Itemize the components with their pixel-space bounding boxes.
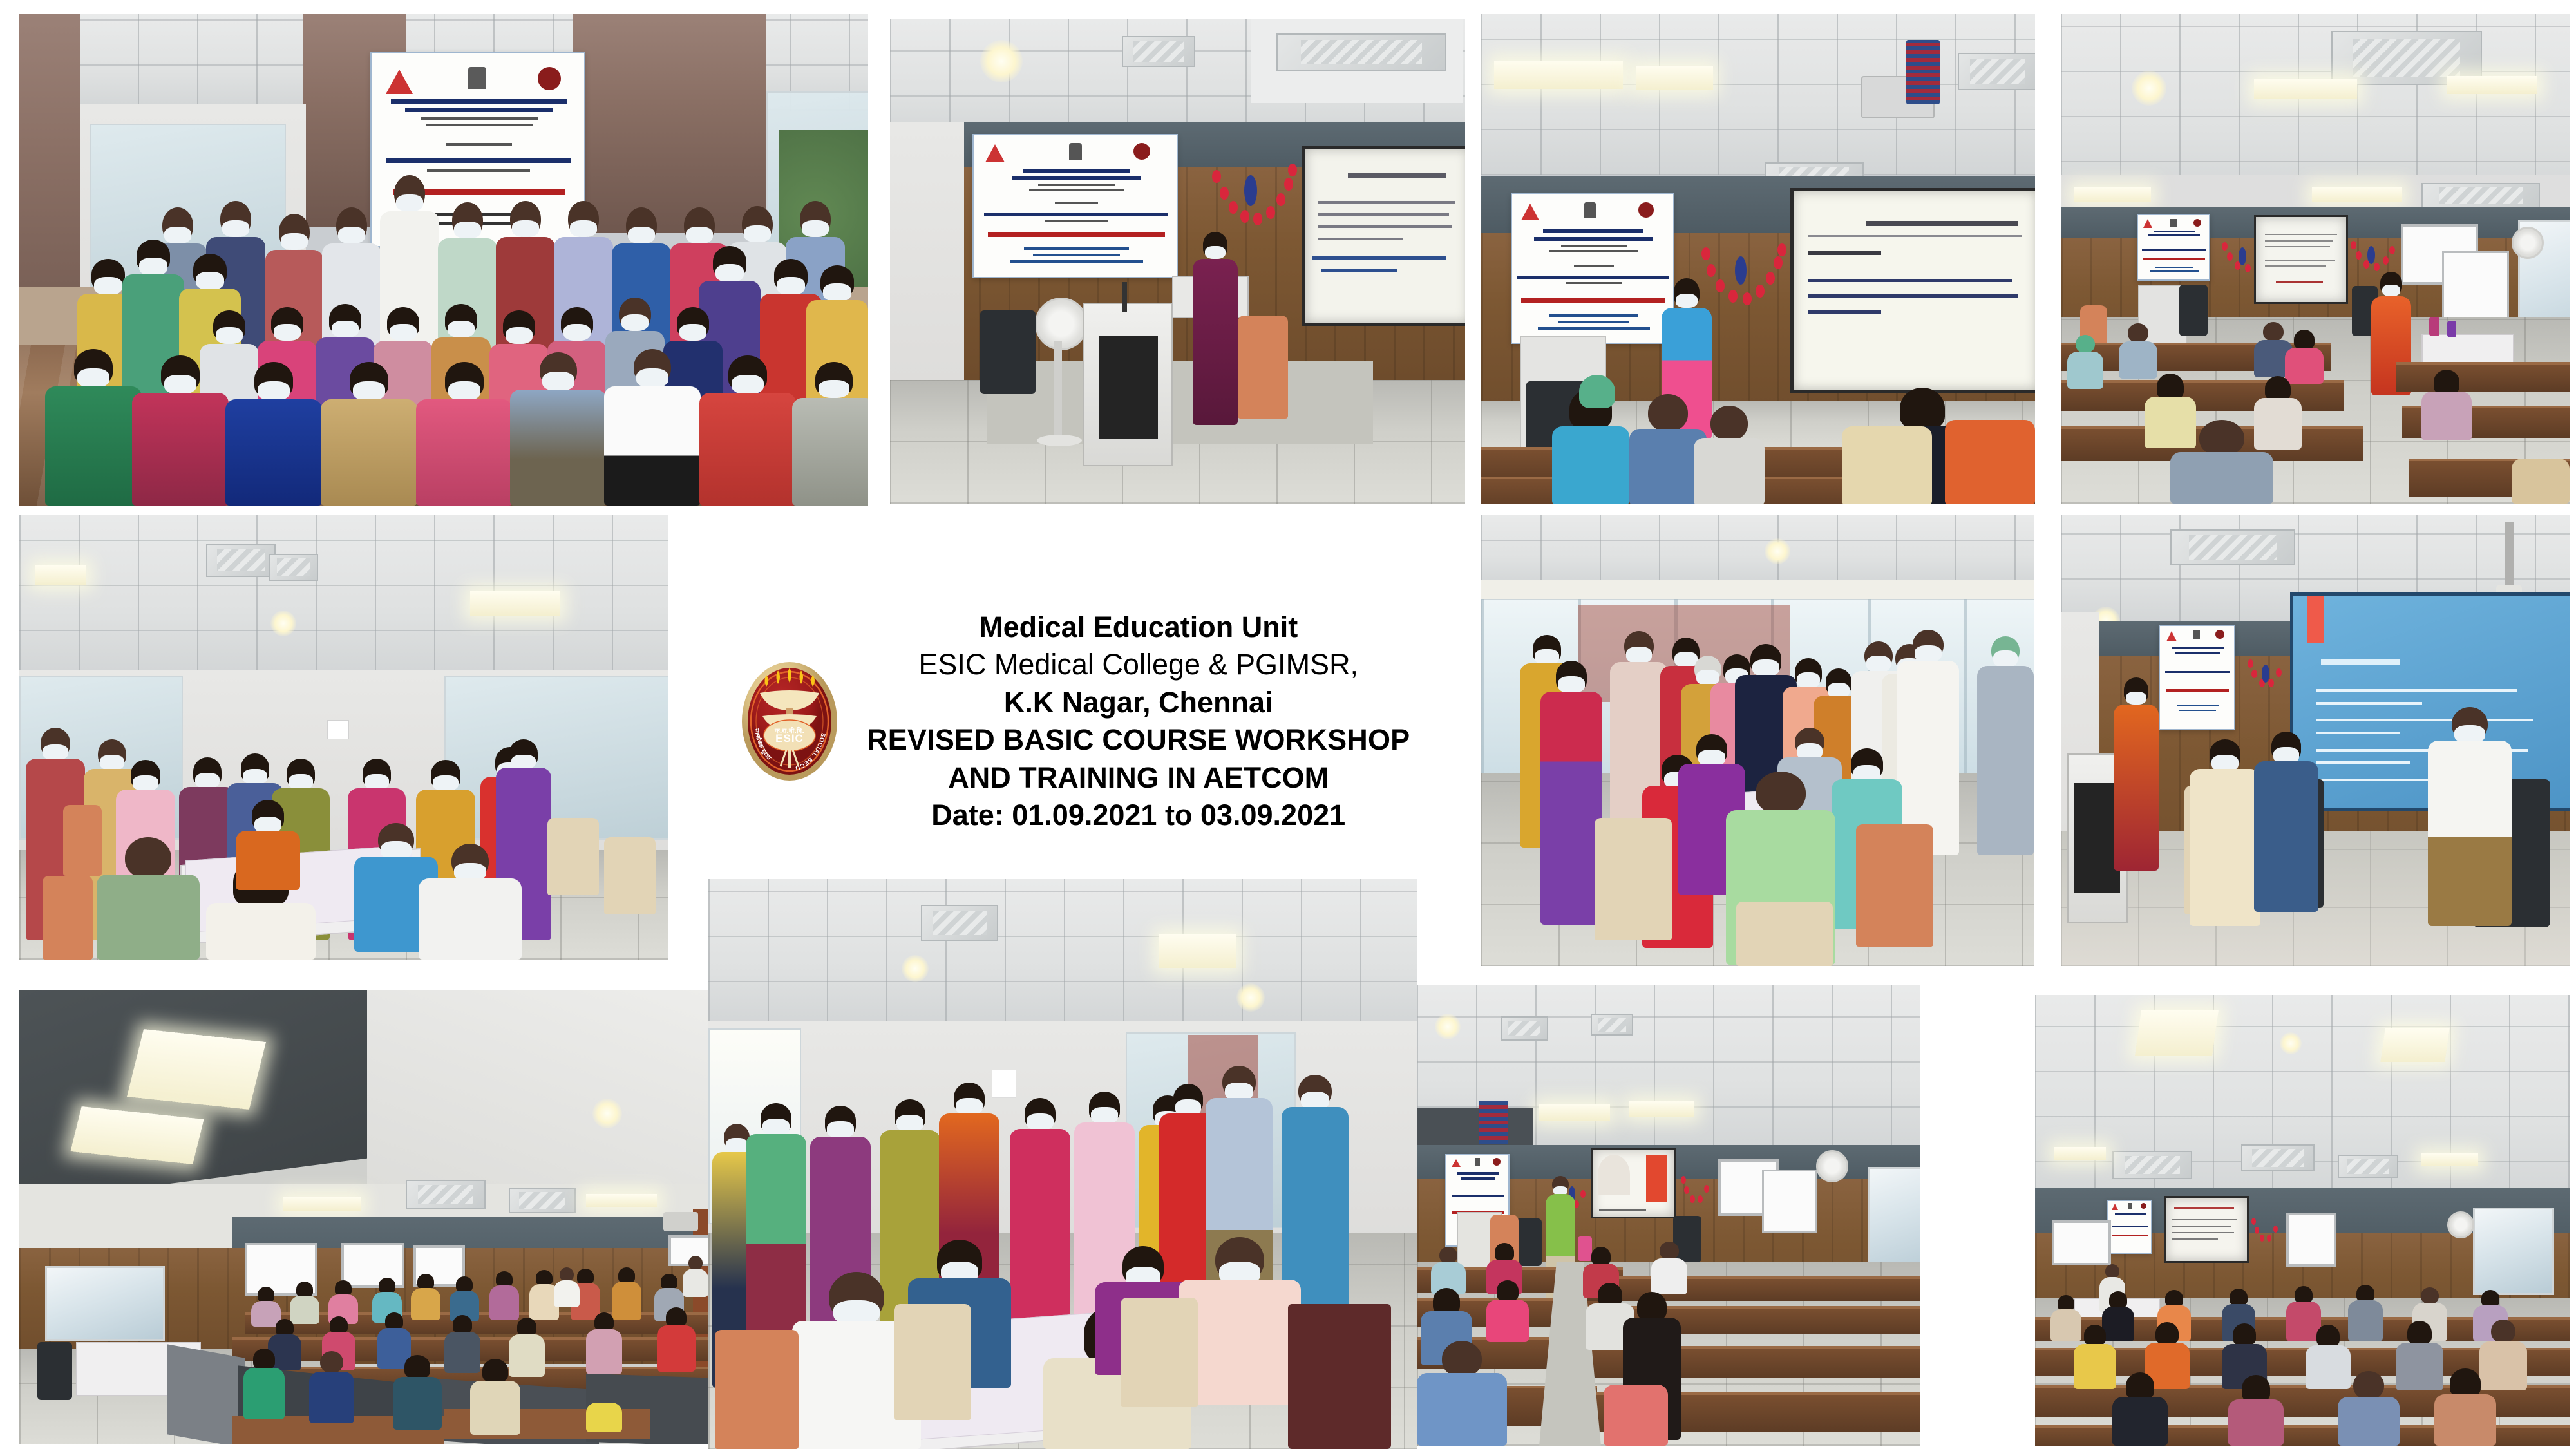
photo-collage: क.रा.बी.नि. ESIC SOCIAL SECURITY सामाजिक… bbox=[0, 0, 2576, 1449]
svg-text:ESIC: ESIC bbox=[775, 732, 804, 744]
projection-screen bbox=[2164, 1196, 2249, 1263]
line-title: Medical Education Unit bbox=[979, 609, 1298, 647]
photo-classroom-facilitator bbox=[1417, 985, 1920, 1446]
photo-podium-session bbox=[890, 19, 1465, 504]
line-date: Date: 01.09.2021 to 03.09.2021 bbox=[931, 797, 1345, 835]
title-text-block: Medical Education Unit ESIC Medical Coll… bbox=[867, 609, 1410, 835]
photo-small-group-activity-2 bbox=[1481, 515, 2034, 966]
event-banner bbox=[972, 134, 1178, 278]
projection-screen bbox=[1302, 146, 1465, 326]
line-location: K.K Nagar, Chennai bbox=[1004, 684, 1273, 722]
projection-screen bbox=[2254, 215, 2348, 304]
line-event-1: REVISED BASIC COURSE WORKSHOP bbox=[867, 721, 1410, 759]
photo-small-group-activity-3 bbox=[708, 879, 1417, 1449]
photo-group-photo bbox=[19, 14, 868, 506]
center-title-card: क.रा.बी.नि. ESIC SOCIAL SECURITY सामाजिक… bbox=[741, 567, 1468, 876]
photo-small-group-activity-1 bbox=[19, 515, 668, 960]
line-event-2: AND TRAINING IN AETCOM bbox=[948, 759, 1329, 797]
event-banner bbox=[2107, 1200, 2152, 1254]
esic-logo: क.रा.बी.नि. ESIC SOCIAL SECURITY सामाजिक… bbox=[741, 659, 838, 783]
photo-summary-session bbox=[2061, 515, 2570, 966]
line-institution: ESIC Medical College & PGIMSR, bbox=[918, 646, 1358, 684]
photo-cognitive-domain-lecture bbox=[1481, 14, 2035, 504]
podium bbox=[1083, 303, 1173, 466]
photo-classroom-rear-view bbox=[2035, 995, 2570, 1446]
projection-screen bbox=[1790, 188, 2035, 393]
event-banner bbox=[1511, 193, 1674, 344]
projection-screen bbox=[1591, 1148, 1676, 1218]
event-banner bbox=[2137, 214, 2210, 281]
photo-classroom-wide bbox=[2061, 14, 2570, 504]
event-banner bbox=[2159, 625, 2235, 730]
